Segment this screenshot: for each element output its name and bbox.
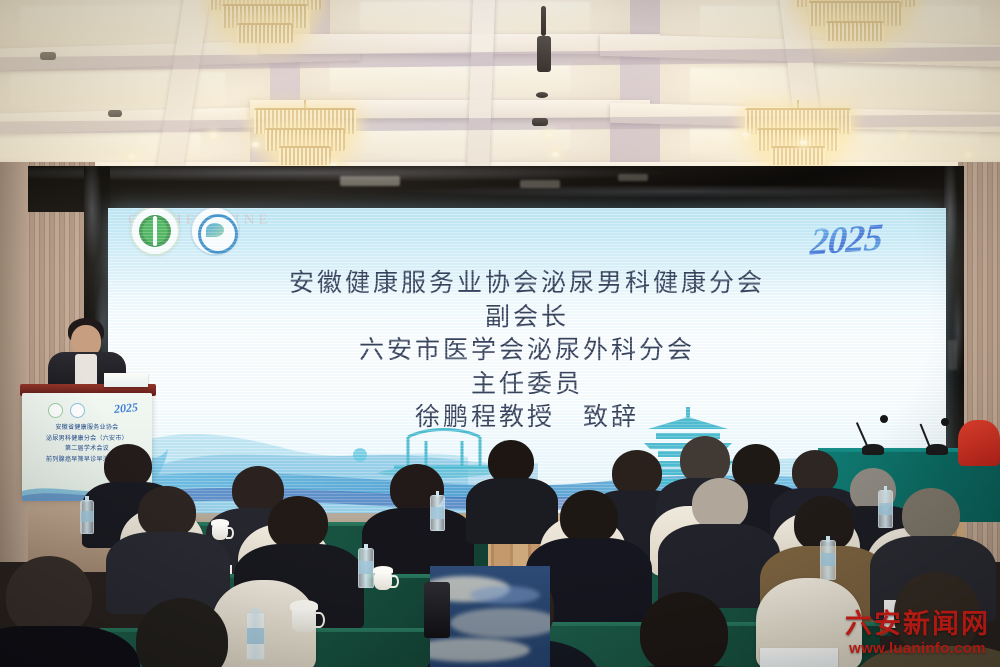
water-bottle [358,548,374,588]
marble-highlight [340,176,400,186]
ceiling [0,0,1000,175]
podium-association-logo [48,403,63,418]
tea-cup [212,524,228,540]
podium-logo-group [48,403,85,418]
water-bottle [80,500,94,534]
podium-line-2: 泌尿男科健康分会（六安市） [22,434,152,445]
name-placard [760,648,838,667]
left-wall-panel [0,162,28,562]
marble-highlight [520,180,560,188]
tea-cup [374,572,392,590]
head-table-microphone [862,416,902,452]
conference-photo: QUZHEN LINE 2025 安徽健康服务业协会泌尿男科健康分会 副会长 六… [0,0,1000,667]
water-bottle [878,490,893,528]
podium-line-1: 安徽省健康服务业协会 [22,423,152,434]
marble-highlight [618,174,648,181]
water-bottle [430,495,445,531]
podium-name-card [104,373,148,387]
watermark: 六安新闻网 www.luaninfo.com [845,611,990,657]
podium-branch-logo [70,403,85,418]
podium-year-graphic: 2025 [113,400,138,417]
head-table-microphone [926,418,966,452]
water-bottle [246,612,265,660]
watermark-url: www.luaninfo.com [845,640,990,657]
water-bottle [820,540,836,580]
marble-highlight [948,340,957,370]
marble-band-upper [28,166,963,212]
tea-cup [292,608,316,632]
watermark-site-name: 六安新闻网 [845,611,990,638]
floor-stand [424,582,450,638]
